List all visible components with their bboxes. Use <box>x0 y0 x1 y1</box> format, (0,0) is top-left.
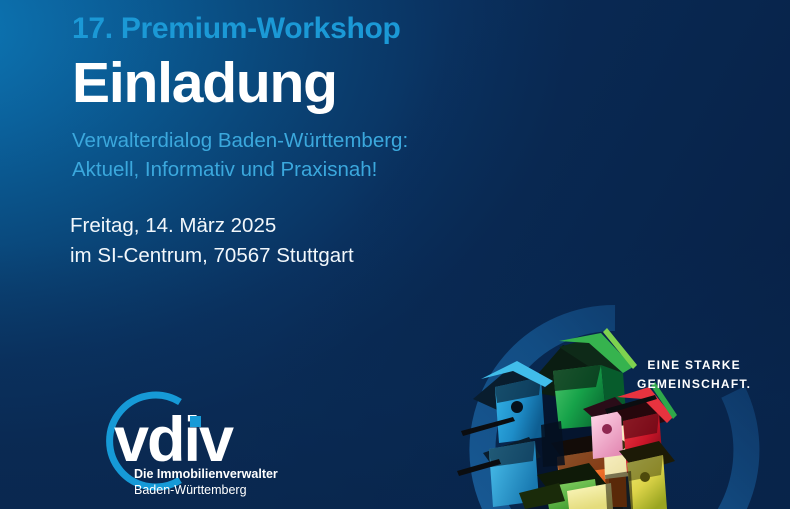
vdiv-i-dot-icon <box>190 416 201 427</box>
vdiv-logo: vdiv Die Immobilienverwalter Baden-Württ… <box>72 388 292 496</box>
svg-text:vdiv: vdiv <box>114 405 234 475</box>
page-title: Einladung <box>72 54 337 112</box>
tagline: EINE STARKE GEMEINSCHAFT. <box>637 356 751 395</box>
subtitle-line-1: Verwalterdialog Baden-Württemberg: <box>72 126 408 155</box>
tagline-line-1: EINE STARKE <box>637 356 751 375</box>
event-venue: im SI-Centrum, 70567 Stuttgart <box>70 241 354 271</box>
svg-text:Baden-Württemberg: Baden-Württemberg <box>134 483 247 497</box>
invitation-poster: 17. Premium-Workshop Einladung Verwalter… <box>0 0 790 509</box>
tagline-line-2: GEMEINSCHAFT. <box>637 375 751 394</box>
event-date: Freitag, 14. März 2025 <box>70 211 354 241</box>
poster-content: 17. Premium-Workshop Einladung Verwalter… <box>0 0 790 509</box>
subtitle-line-2: Aktuell, Informativ und Praxisnah! <box>72 155 408 184</box>
event-details: Freitag, 14. März 2025 im SI-Centrum, 70… <box>70 211 354 271</box>
poster-subtitle: Verwalterdialog Baden-Württemberg: Aktue… <box>72 126 408 185</box>
svg-text:Die Immobilienverwalter: Die Immobilienverwalter <box>134 467 278 481</box>
poster-kicker: 17. Premium-Workshop <box>72 12 401 46</box>
